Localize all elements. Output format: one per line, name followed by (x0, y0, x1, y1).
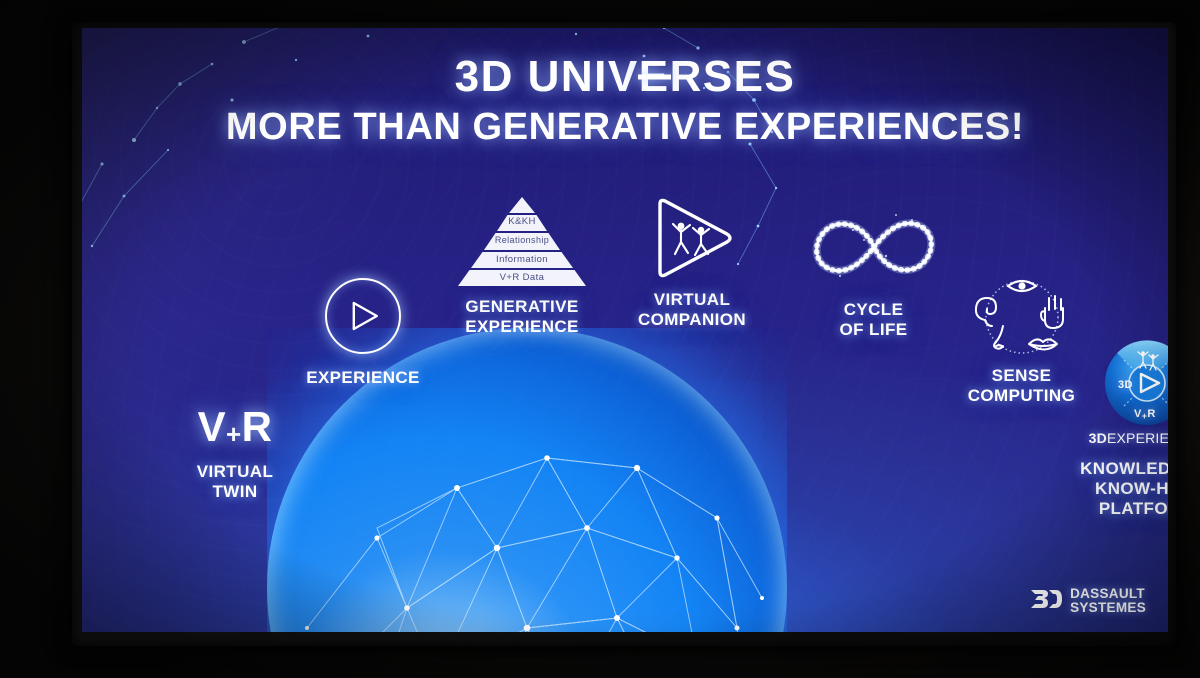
3ds-monogram-icon (1029, 586, 1063, 616)
e-crossbar (638, 75, 671, 80)
company-name-line2: SYSTEMES (1070, 601, 1146, 615)
compass-label-3d: 3D (1118, 379, 1133, 391)
title-part-2: RSES (670, 52, 796, 101)
virtual-twin-label-line2: TWIN (160, 482, 310, 502)
title-part-1: 3D UNIV (455, 52, 639, 101)
brand-experience: EXPERIENCE (1107, 430, 1168, 446)
play-triangle-icon (350, 300, 380, 332)
pyramid-tier-information: Information (474, 254, 570, 265)
eye-icon (1008, 281, 1036, 291)
company-name-line1: DASSAULT (1070, 587, 1146, 601)
virtual-twin-label-line1: VIRTUAL (160, 462, 310, 482)
knowledge-platform-label-line3: PLATFORM (1057, 499, 1168, 519)
knowledge-platform-label-line1: KNOWLEDGE & (1057, 459, 1168, 479)
vr-r: R (242, 403, 273, 450)
stylized-e-glyph: E (639, 52, 670, 102)
page-subtitle: MORE THAN GENERATIVE EXPERIENCES! (82, 106, 1168, 149)
virtual-companion-label-line1: VIRTUAL (602, 290, 782, 310)
company-name: DASSAULT SYSTEMES (1070, 587, 1146, 615)
photograph-of-presentation-screen: 3D UNIVERSES MORE THAN GENERATIVE EXPERI… (0, 0, 1200, 678)
lips-icon (1029, 339, 1057, 349)
companion-svg (647, 196, 737, 280)
node-virtual-companion: VIRTUAL COMPANION (602, 196, 782, 330)
play-circle-icon (325, 278, 401, 354)
pyramid-tier-kkh: K&KH (498, 216, 546, 227)
nose-icon (994, 326, 1003, 349)
pyramid-icon: K&KH Relationship Information V+R Data (447, 196, 597, 288)
pyramid-tier-relationship: Relationship (486, 235, 558, 246)
generative-experience-label-line2: EXPERIENCE (422, 317, 622, 337)
vr-v: V (198, 403, 226, 450)
3dexperience-compass-icon: 3D i / V+R (1104, 340, 1168, 426)
brand-3d: 3D (1089, 430, 1107, 446)
ear-icon (975, 298, 995, 326)
infinity-svg (804, 206, 944, 288)
page-title: 3D UNIVERSES (82, 52, 1168, 102)
hand-icon (1041, 296, 1063, 328)
dassault-systemes-logo: DASSAULT SYSTEMES (1029, 586, 1146, 616)
3dexperience-wordmark: 3DEXPERIENCE® (1057, 430, 1168, 447)
generative-experience-label-line1: GENERATIVE (422, 297, 622, 317)
virtual-companion-label-line2: COMPANION (602, 310, 782, 330)
infinity-particles-icon (804, 206, 944, 288)
vr-plus: + (226, 419, 242, 449)
node-knowledge-platform: 3D i / V+R 3DEXPERIENCE® KNOWLEDGE & KNO… (1057, 340, 1168, 519)
node-virtual-twin: V+R VIRTUAL TWIN (160, 406, 310, 502)
companion-play-triangle-icon (647, 196, 737, 280)
pyramid-tier-vr-data: V+R Data (463, 272, 581, 283)
vr-symbol: V+R (160, 406, 310, 448)
compass-svg: 3D i / V+R (1104, 340, 1168, 426)
node-generative-experience: K&KH Relationship Information V+R Data G… (422, 196, 622, 337)
knowledge-platform-label-line2: KNOW-HOW (1057, 479, 1168, 499)
experience-label: EXPERIENCE (278, 368, 448, 388)
presentation-slide: 3D UNIVERSES MORE THAN GENERATIVE EXPERI… (82, 28, 1168, 632)
